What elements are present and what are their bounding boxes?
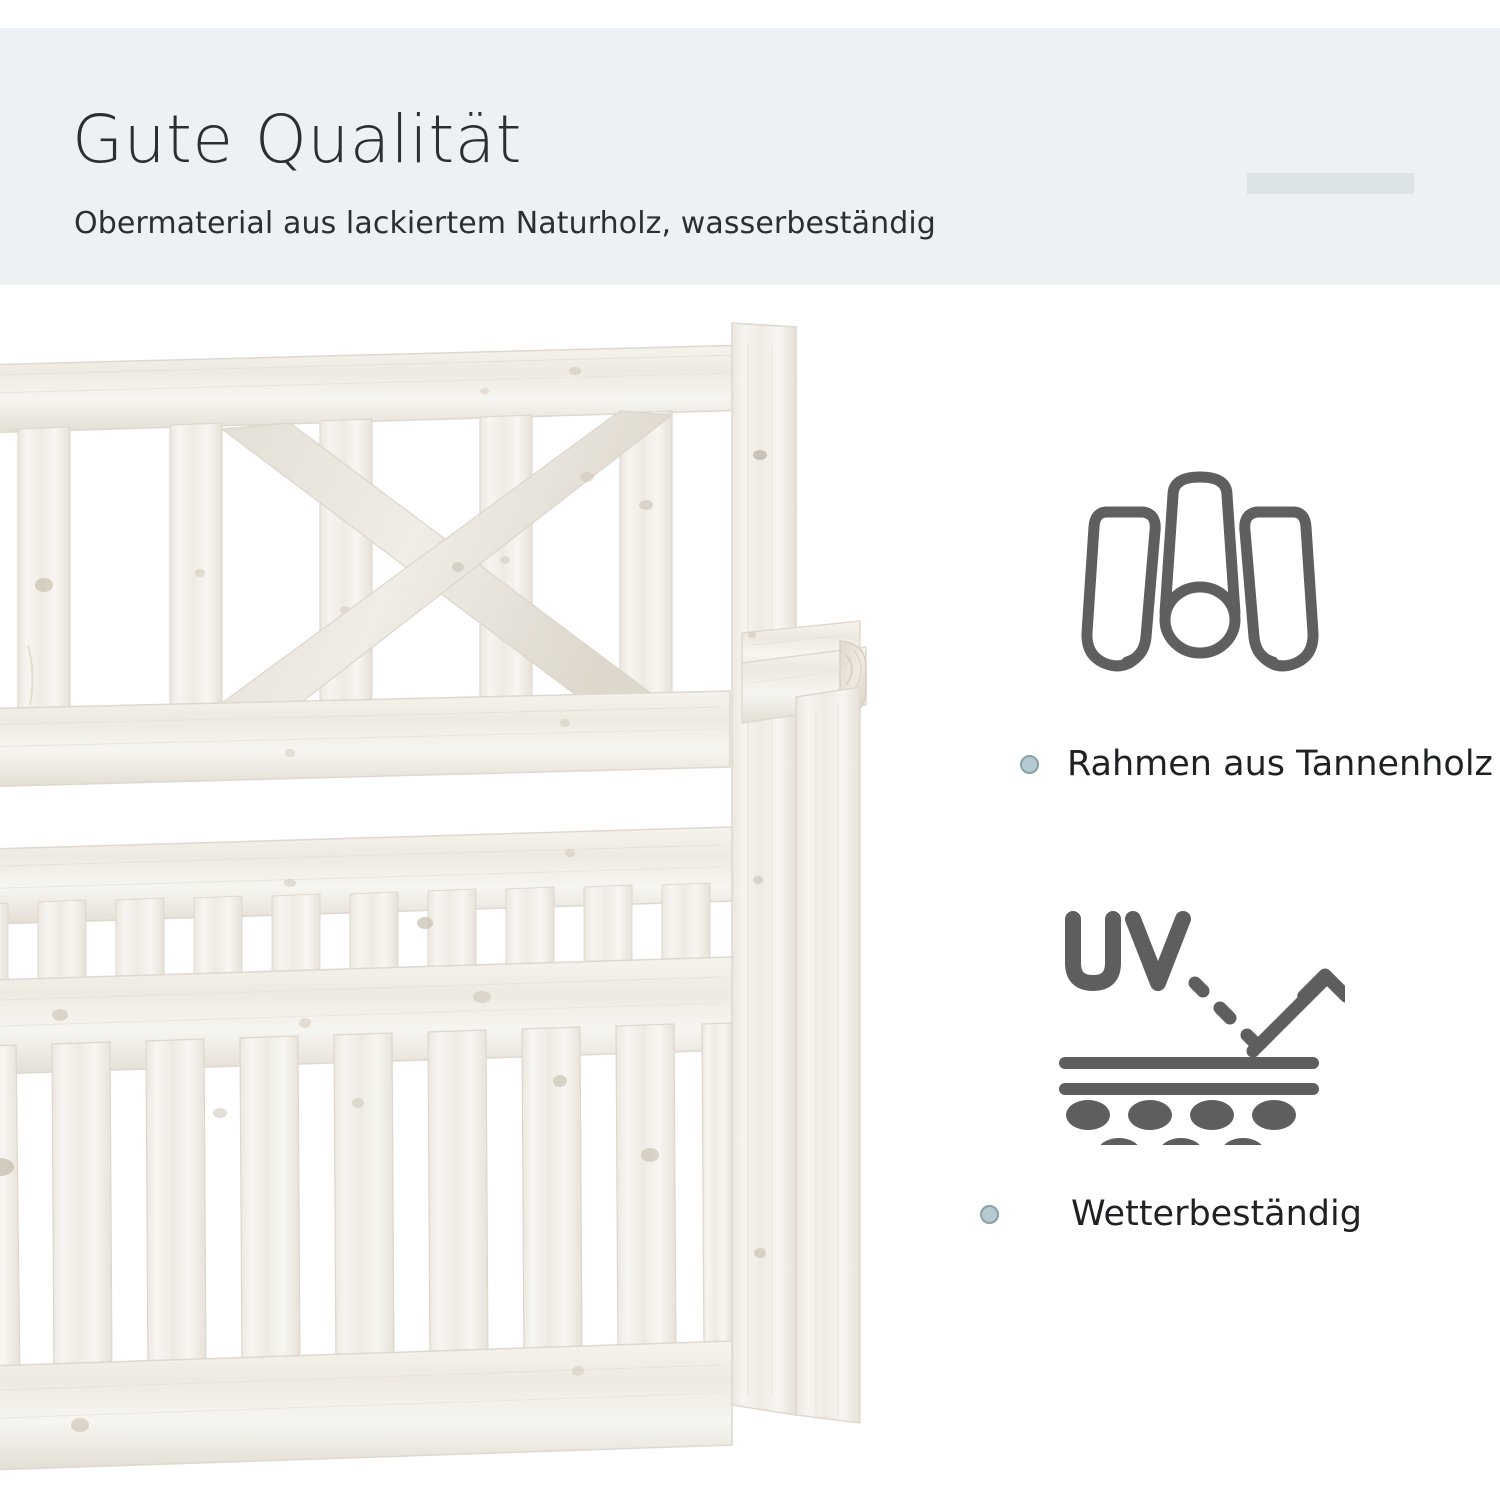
uv-letters	[1073, 919, 1183, 983]
uv-surface-bars	[1065, 1063, 1313, 1089]
product-photo	[0, 285, 960, 1500]
uv-weather-resistant-icon	[1055, 905, 1345, 1145]
bench-right-post	[732, 323, 796, 1415]
uv-reflected-arrow	[1253, 975, 1345, 1051]
backrest-x-brace	[222, 411, 672, 717]
page-subtitle: Obermaterial aus lackiertem Naturholz, w…	[74, 209, 936, 239]
armrest-front-leg	[796, 687, 860, 1423]
feature-text-2: Wetterbeständig	[1071, 1197, 1362, 1232]
feature-label-2: Wetterbeständig	[960, 1197, 1500, 1232]
bullet-icon	[1020, 755, 1039, 774]
uv-incoming-ray	[1195, 983, 1253, 1041]
header-band: Gute Qualität Obermaterial aus lackierte…	[0, 28, 1500, 285]
logo-placeholder	[1247, 173, 1414, 194]
uv-particles	[1066, 1100, 1296, 1145]
wood-logs-icon	[1075, 465, 1325, 695]
garden-bench-illustration	[0, 305, 960, 1500]
bullet-icon	[980, 1205, 999, 1224]
feature-item-2: Wetterbeständig	[960, 905, 1500, 1232]
feature-label-1: Rahmen aus Tannenholz	[960, 747, 1500, 782]
feature-text-1: Rahmen aus Tannenholz	[1067, 747, 1493, 782]
storage-box-front-slats	[0, 1023, 732, 1383]
page-title: Gute Qualität	[72, 107, 522, 173]
feature-panel: Rahmen aus Tannenholz	[960, 285, 1500, 1500]
feature-item-1: Rahmen aus Tannenholz	[960, 465, 1500, 782]
backrest-bottom-rail	[0, 691, 730, 787]
